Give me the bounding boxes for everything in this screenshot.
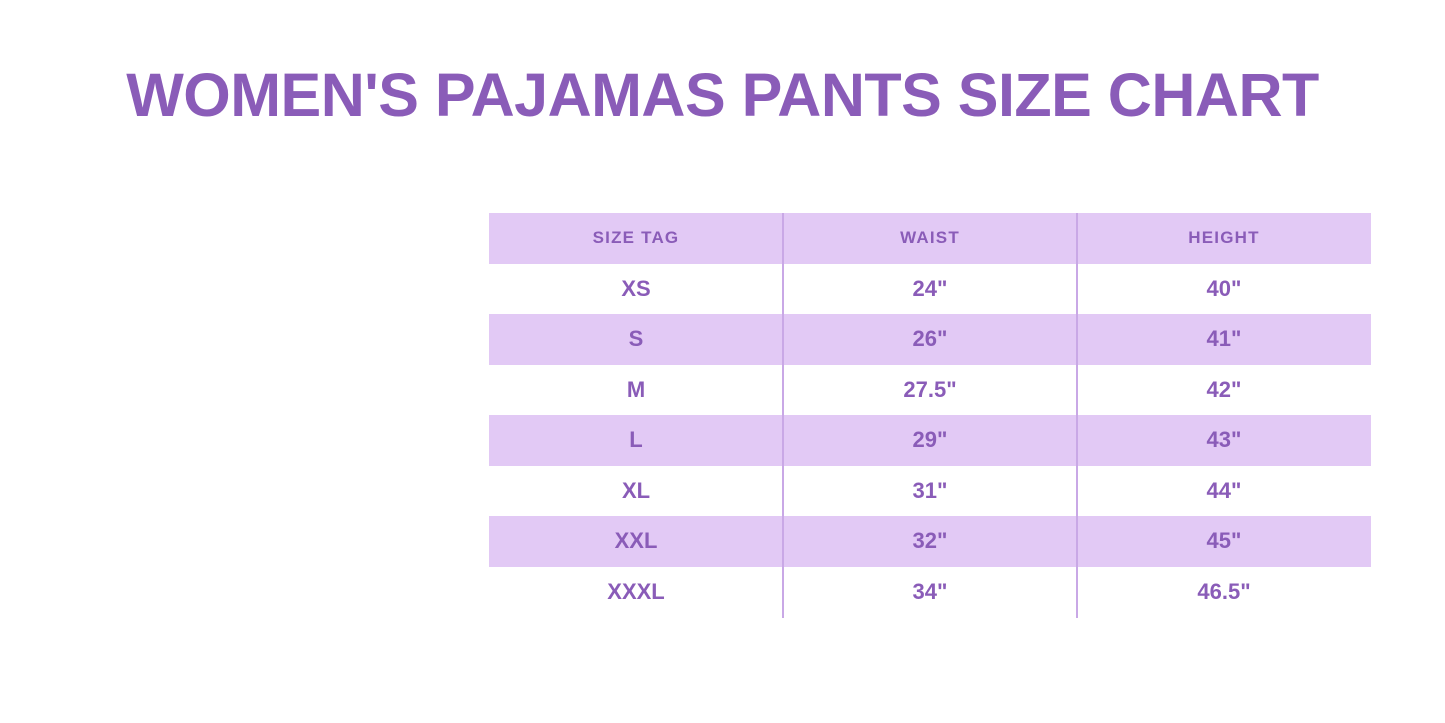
cell-size-tag: XXXL xyxy=(489,567,783,618)
table-row: XS 24" 40" xyxy=(489,264,1371,315)
size-chart-table: SIZE TAG WAIST HEIGHT XS 24" 40" S 26" 4… xyxy=(489,213,1371,617)
cell-height: 44" xyxy=(1077,466,1371,517)
cell-waist: 34" xyxy=(783,567,1077,618)
cell-size-tag: L xyxy=(489,415,783,466)
cell-size-tag: S xyxy=(489,314,783,365)
cell-height: 42" xyxy=(1077,365,1371,416)
cell-height: 43" xyxy=(1077,415,1371,466)
cell-height: 45" xyxy=(1077,516,1371,567)
cell-size-tag: XXL xyxy=(489,516,783,567)
table-row: S 26" 41" xyxy=(489,314,1371,365)
table-row: XXXL 34" 46.5" xyxy=(489,567,1371,618)
cell-waist: 24" xyxy=(783,264,1077,315)
cell-height: 46.5" xyxy=(1077,567,1371,618)
cell-size-tag: M xyxy=(489,365,783,416)
size-chart-page: WOMEN'S PAJAMAS PANTS SIZE CHART SIZE TA… xyxy=(0,0,1445,723)
column-header-size-tag: SIZE TAG xyxy=(489,213,783,264)
table-header-row: SIZE TAG WAIST HEIGHT xyxy=(489,213,1371,264)
size-chart-table-container: SIZE TAG WAIST HEIGHT XS 24" 40" S 26" 4… xyxy=(489,213,1371,617)
column-header-height: HEIGHT xyxy=(1077,213,1371,264)
cell-size-tag: XL xyxy=(489,466,783,517)
column-header-waist: WAIST xyxy=(783,213,1077,264)
cell-height: 41" xyxy=(1077,314,1371,365)
table-row: XL 31" 44" xyxy=(489,466,1371,517)
cell-size-tag: XS xyxy=(489,264,783,315)
table-row: M 27.5" 42" xyxy=(489,365,1371,416)
table-header: SIZE TAG WAIST HEIGHT xyxy=(489,213,1371,264)
table-body: XS 24" 40" S 26" 41" M 27.5" 42" L 29" xyxy=(489,264,1371,618)
cell-waist: 26" xyxy=(783,314,1077,365)
table-row: XXL 32" 45" xyxy=(489,516,1371,567)
cell-height: 40" xyxy=(1077,264,1371,315)
cell-waist: 29" xyxy=(783,415,1077,466)
cell-waist: 32" xyxy=(783,516,1077,567)
table-row: L 29" 43" xyxy=(489,415,1371,466)
cell-waist: 31" xyxy=(783,466,1077,517)
cell-waist: 27.5" xyxy=(783,365,1077,416)
page-title: WOMEN'S PAJAMAS PANTS SIZE CHART xyxy=(0,62,1445,129)
